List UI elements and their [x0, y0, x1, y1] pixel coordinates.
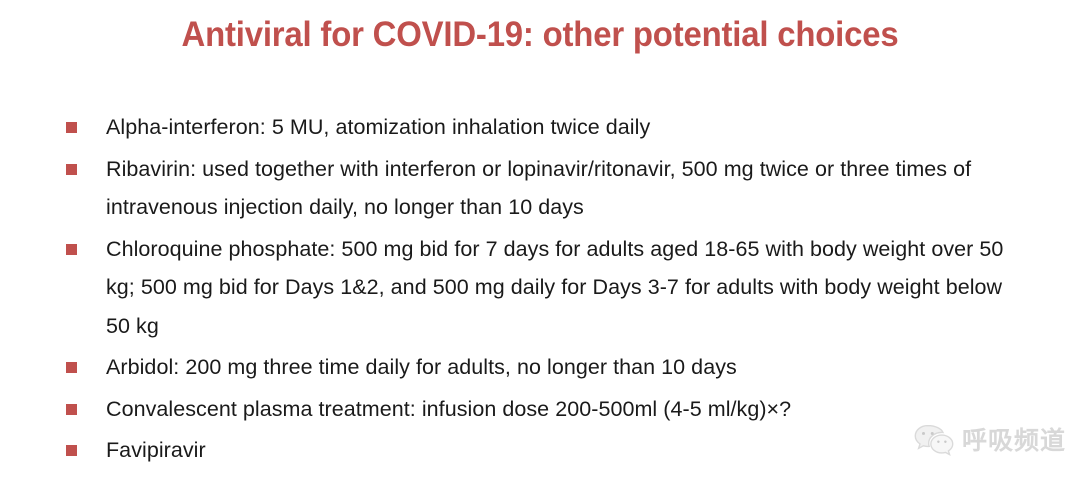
list-item-label: Arbidol: 200 mg three time daily for adu…	[106, 348, 1022, 387]
list-item: Convalescent plasma treatment: infusion …	[62, 390, 1022, 429]
square-bullet-icon	[66, 244, 77, 255]
list-item: Ribavirin: used together with interferon…	[62, 150, 1022, 227]
list-item: Alpha-interferon: 5 MU, atomization inha…	[62, 108, 1022, 147]
square-bullet-icon	[66, 404, 77, 415]
page-title: Antiviral for COVID-19: other potential …	[32, 14, 1047, 56]
list-item: Favipiravir	[62, 431, 1022, 470]
list-item-label: Chloroquine phosphate: 500 mg bid for 7 …	[106, 230, 1011, 346]
list-item-label: Favipiravir	[106, 431, 1022, 470]
list-item-label: Ribavirin: used together with interferon…	[106, 150, 1011, 227]
slide-canvas: Antiviral for COVID-19: other potential …	[0, 0, 1080, 481]
square-bullet-icon	[66, 445, 77, 456]
list-item: Arbidol: 200 mg three time daily for adu…	[62, 348, 1022, 387]
square-bullet-icon	[66, 164, 77, 175]
bullet-list: Alpha-interferon: 5 MU, atomization inha…	[62, 108, 1022, 473]
list-item: Chloroquine phosphate: 500 mg bid for 7 …	[62, 230, 1022, 346]
list-item-label: Convalescent plasma treatment: infusion …	[106, 390, 1022, 429]
square-bullet-icon	[66, 362, 77, 373]
list-item-label: Alpha-interferon: 5 MU, atomization inha…	[106, 108, 1022, 147]
square-bullet-icon	[66, 122, 77, 133]
